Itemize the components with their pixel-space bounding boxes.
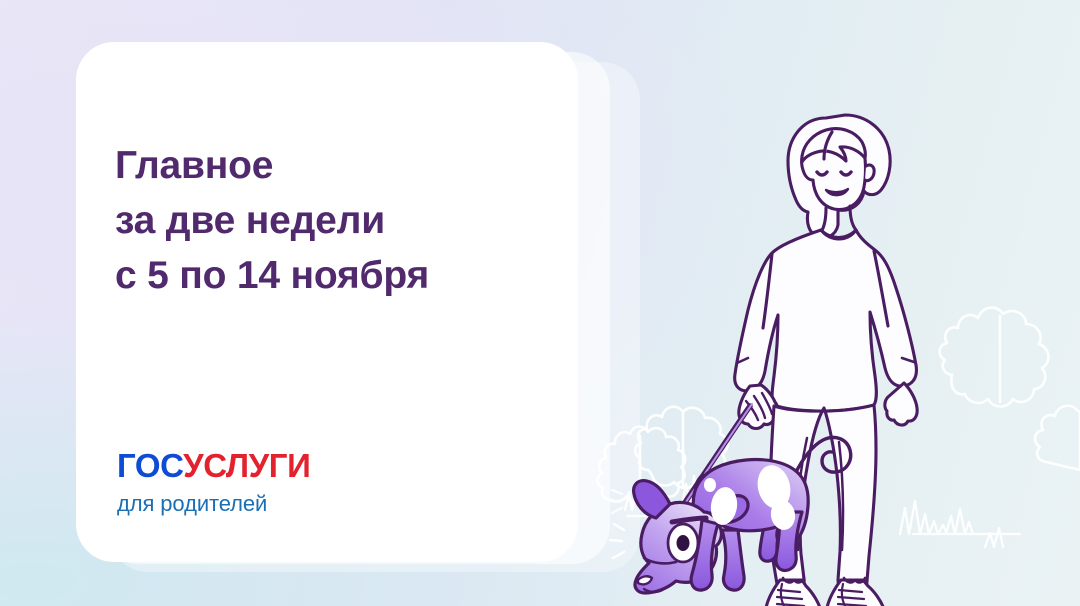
dog-collar: [706, 518, 712, 559]
woman-collar: [821, 230, 856, 239]
woman-eye-right: [841, 172, 851, 175]
headline-line-3: с 5 по 14 ноября: [115, 248, 545, 303]
logo-wordmark-blue: ГОС: [117, 447, 183, 484]
dog-leg-front-near: [691, 520, 718, 590]
gosuslugi-logo[interactable]: ГОСУСЛУГИ для родителей: [117, 447, 310, 517]
logo-wordmark-red: УСЛУГИ: [183, 447, 310, 484]
grass-tufts: [625, 476, 1020, 547]
woman-sneaker-right: [827, 578, 885, 606]
dog-leg-hind-near: [776, 512, 802, 570]
woman-neck: [821, 206, 856, 232]
dog-eye-white: [668, 524, 698, 562]
bush-far-right: [1035, 406, 1080, 470]
dog-leg-front-far: [675, 516, 699, 569]
logo-tagline: для родителей: [117, 491, 310, 517]
trouser-seam-right: [839, 442, 843, 550]
woman-sneaker-left: [766, 578, 822, 606]
woman-mouth: [826, 189, 848, 195]
woman-hand-leash: [739, 385, 778, 429]
headline-line-2: за две недели: [115, 193, 545, 248]
dog-leg-mid: [722, 530, 744, 590]
dog-body: [693, 460, 808, 547]
dog-eye-pupil: [677, 535, 690, 551]
woman-face: [802, 131, 866, 210]
dog-leash: [672, 404, 752, 522]
dog-figure: [634, 437, 851, 593]
woman-hand-right: [885, 383, 917, 425]
dog-leg-hind-far: [760, 508, 784, 561]
dog-head: [635, 502, 721, 593]
dog-markings: [704, 462, 797, 532]
dog-ear-far: [712, 496, 748, 523]
page-title: Главное за две недели с 5 по 14 ноября: [115, 138, 545, 303]
poster-canvas: Главное за две недели с 5 по 14 ноября Г…: [0, 0, 1080, 606]
trouser-seam-left: [797, 438, 807, 550]
woman-figure: [735, 115, 917, 606]
woman-fringe: [802, 129, 865, 162]
headline-line-1: Главное: [115, 138, 545, 193]
logo-wordmark: ГОСУСЛУГИ: [117, 447, 310, 485]
woman-top: [735, 230, 917, 411]
dog-nose: [638, 576, 652, 584]
woman-trousers: [770, 405, 876, 596]
bush-right: [940, 308, 1049, 407]
woman-hair-back: [788, 115, 890, 238]
woman-ear: [865, 165, 874, 181]
bush-center: [635, 407, 728, 488]
main-illustration: [600, 60, 1080, 606]
woman-eye-left: [817, 172, 827, 175]
dog-tail: [795, 437, 851, 474]
